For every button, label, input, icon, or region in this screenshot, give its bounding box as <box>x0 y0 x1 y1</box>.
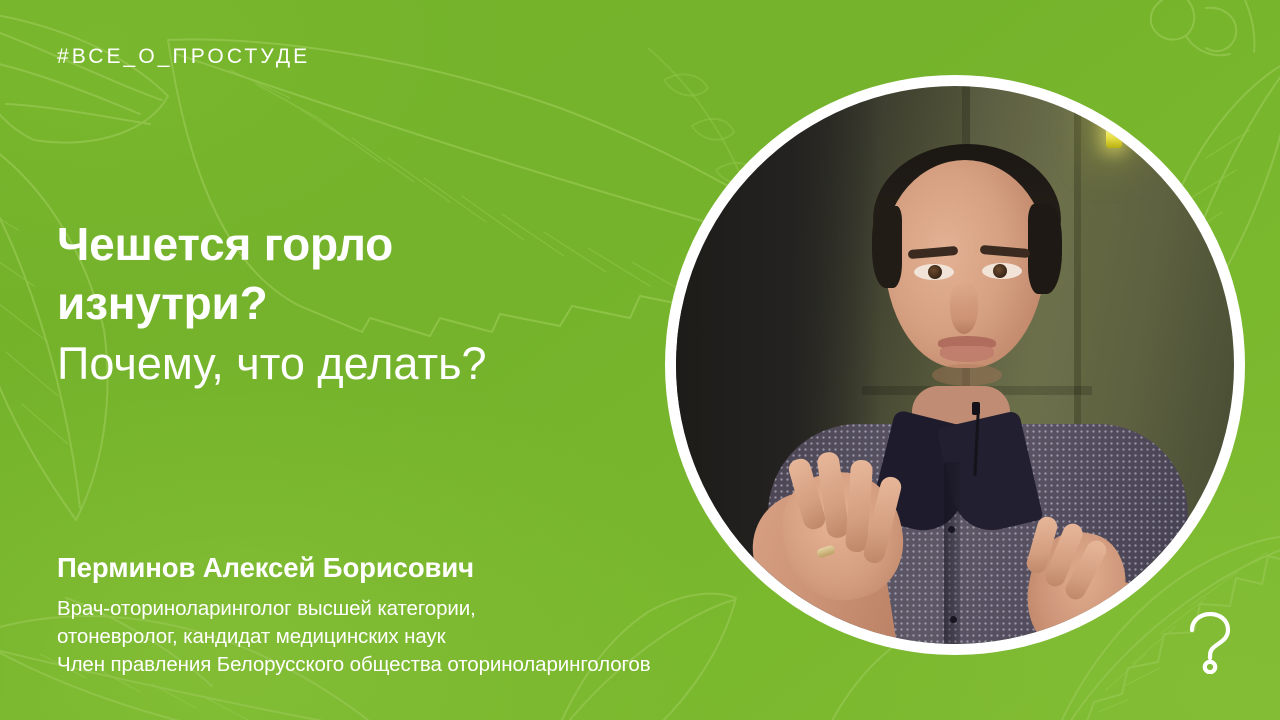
question-mark-icon <box>1184 612 1236 674</box>
headline-line-2: изнутри? <box>57 274 657 333</box>
speaker-credentials: Врач-оториноларинголог высшей категории,… <box>57 595 651 679</box>
speaker-credential-line: Врач-оториноларинголог высшей категории, <box>57 595 651 623</box>
photo-nose <box>950 282 978 334</box>
photo-shirt-button <box>948 526 955 533</box>
photo-chin <box>932 364 1002 386</box>
headline-line-3: Почему, что делать? <box>57 333 657 395</box>
page-title: Чешется горло изнутри? Почему, что делат… <box>57 215 657 395</box>
thumbnail-canvas: #ВСЕ_О_ПРОСТУДЕ Чешется горло изнутри? П… <box>0 0 1280 720</box>
photo-hair-side-right <box>1028 204 1062 294</box>
headline-line-1: Чешется горло <box>57 215 657 274</box>
photo-lower-lip <box>940 346 994 362</box>
photo-lamp-icon <box>1106 86 1122 148</box>
photo-lapel-mic-icon <box>972 402 980 415</box>
portrait-image <box>676 86 1234 644</box>
doctor-portrait-photo-icon <box>665 75 1245 655</box>
hashtag-label: #ВСЕ_О_ПРОСТУДЕ <box>57 45 310 69</box>
photo-eye-right <box>982 263 1022 279</box>
photo-hair-side-left <box>872 206 902 288</box>
photo-shirt-button <box>950 616 957 623</box>
speaker-credential-line: Член правления Белорусского общества ото… <box>57 651 651 679</box>
portrait-clip <box>676 86 1234 644</box>
speaker-name: Перминов Алексей Борисович <box>57 552 474 584</box>
photo-eye-left <box>914 264 954 280</box>
speaker-credential-line: отоневролог, кандидат медицинских наук <box>57 623 651 651</box>
